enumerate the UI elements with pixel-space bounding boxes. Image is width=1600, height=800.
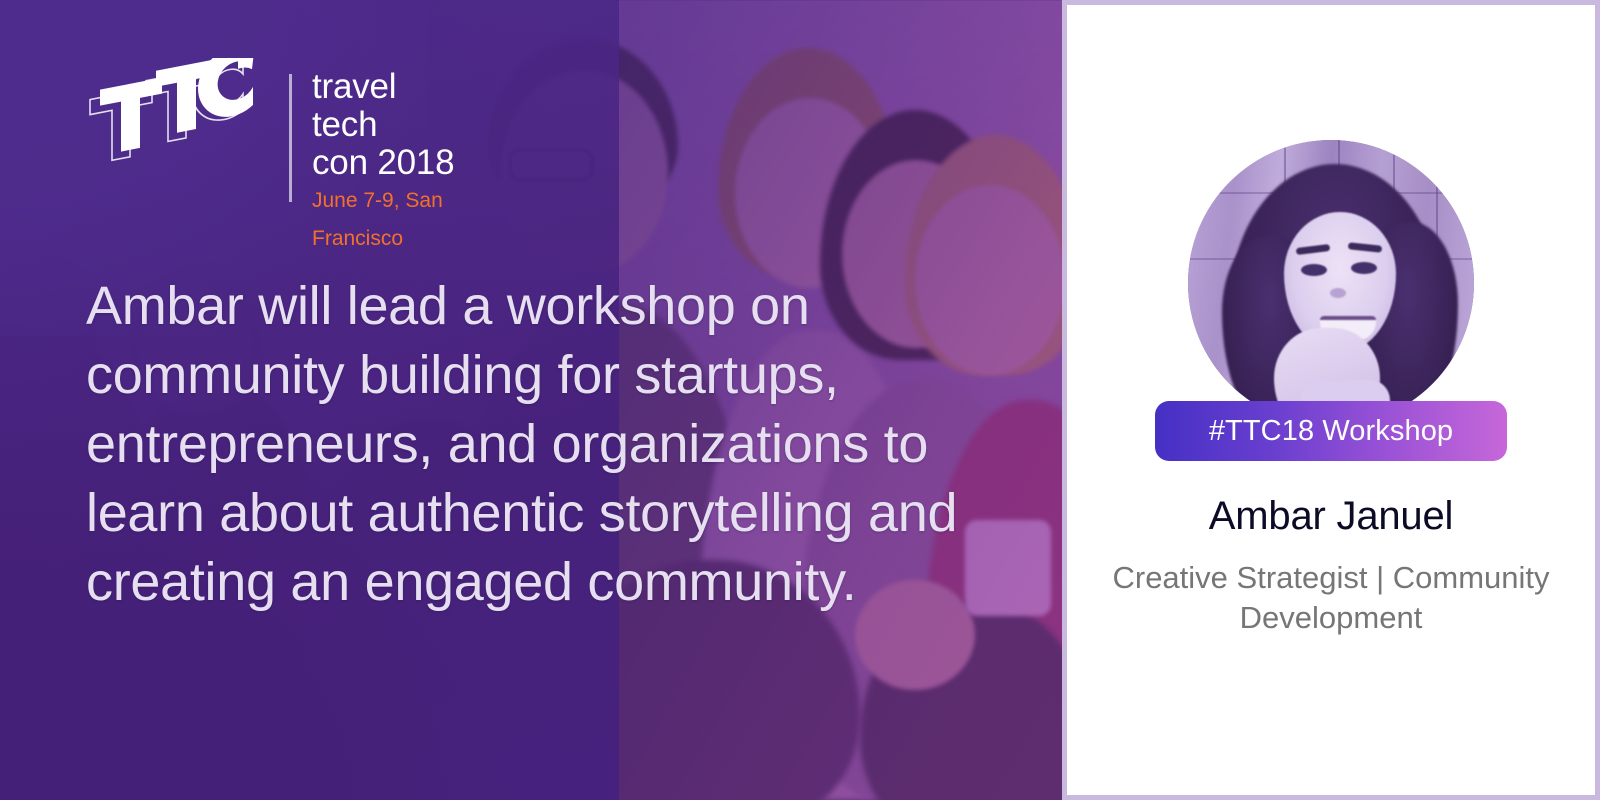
logo-wordmark: travel tech con 2018 June 7-9, San Franc…: [312, 68, 472, 258]
ttc-logo-icon: [88, 58, 273, 178]
event-date-location: June 7-9, San Francisco: [312, 182, 472, 258]
promo-graphic: travel tech con 2018 June 7-9, San Franc…: [0, 0, 1600, 800]
logo-divider: [289, 74, 292, 202]
speaker-card: #TTC18 Workshop Ambar Januel Creative St…: [1062, 0, 1600, 800]
speaker-title: Creative Strategist | Community Developm…: [1101, 558, 1561, 638]
avatar-photo: [1188, 140, 1474, 426]
left-panel: travel tech con 2018 June 7-9, San Franc…: [0, 0, 1068, 800]
workshop-badge: #TTC18 Workshop: [1155, 401, 1507, 461]
avatar-nose: [1330, 288, 1346, 298]
logo-line-travel: travel: [312, 68, 472, 106]
speaker-name: Ambar Januel: [1067, 494, 1595, 539]
brand-logo[interactable]: travel tech con 2018 June 7-9, San Franc…: [88, 58, 472, 258]
avatar-eye-right: [1351, 262, 1377, 274]
logo-line-con-year: con 2018: [312, 144, 472, 182]
headline-text: Ambar will lead a workshop on community …: [86, 272, 1026, 617]
workshop-badge-label: #TTC18 Workshop: [1209, 415, 1453, 448]
avatar-eye-left: [1301, 264, 1327, 276]
avatar: [1188, 140, 1474, 426]
logo-line-tech: tech: [312, 106, 472, 144]
